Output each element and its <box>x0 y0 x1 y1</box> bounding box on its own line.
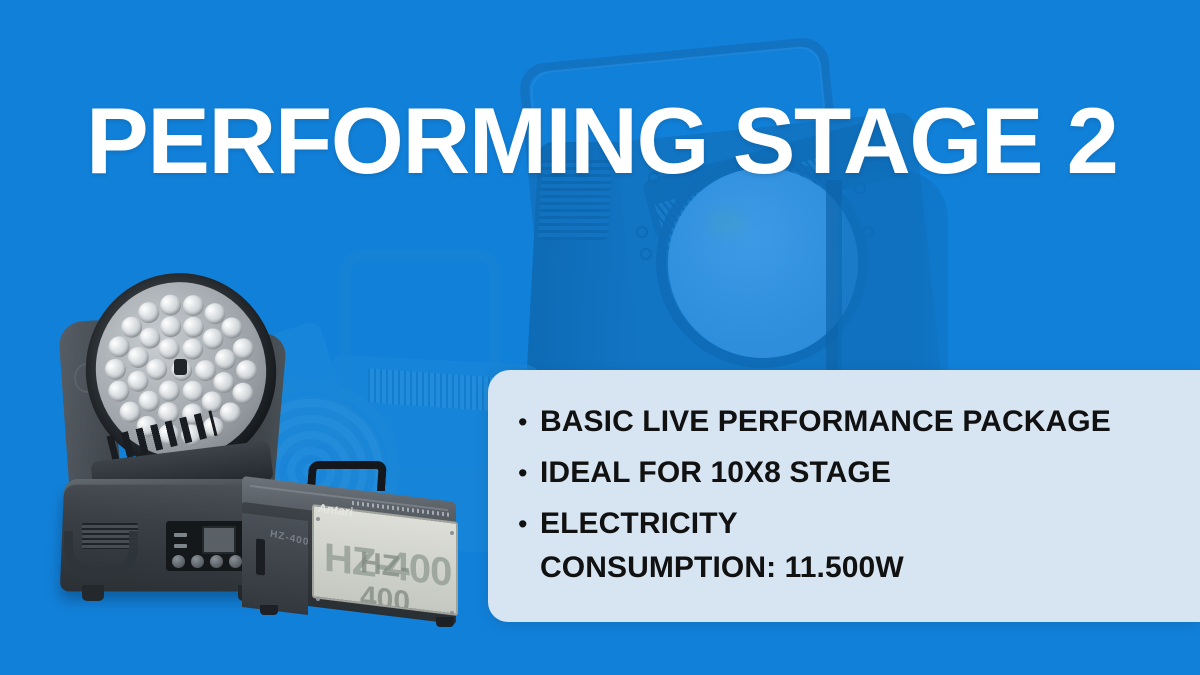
led-lens <box>157 314 182 339</box>
hazer-screw-icon <box>316 517 320 521</box>
moving-head-button[interactable] <box>210 555 223 568</box>
hazer-foot <box>436 617 454 627</box>
hazer-screw-icon <box>316 597 320 601</box>
spec-text: BASIC LIVE PERFORMANCE PACKAGE <box>540 400 1111 444</box>
page-title: PERFORMING STAGE 2 <box>86 94 1117 188</box>
spec-list: • BASIC LIVE PERFORMANCE PACKAGE • IDEAL… <box>518 400 1166 590</box>
moving-head-indicator-icon <box>174 533 187 537</box>
spec-text: ELECTRICITY CONSUMPTION: 11.500W <box>540 502 970 590</box>
hazer-vent-slot <box>256 538 265 575</box>
spec-text: IDEAL FOR 10X8 STAGE <box>540 451 891 495</box>
spec-card: • BASIC LIVE PERFORMANCE PACKAGE • IDEAL… <box>488 370 1200 622</box>
hazer-foot <box>260 605 278 615</box>
watermark-lens-glow <box>708 208 746 238</box>
moving-head-button[interactable] <box>172 555 185 568</box>
moving-head-carry-handle <box>64 531 138 575</box>
moving-head-center-hub <box>174 359 187 375</box>
haze-machine: HZ-400 HZ-400 HZ-400 Antari <box>230 465 470 625</box>
watermark-bolt-icon <box>862 226 874 238</box>
moving-head-button[interactable] <box>191 555 204 568</box>
hazer-model-overlay-text: HZ-400 <box>360 546 456 616</box>
slide-canvas: PERFORMING STAGE 2 • BASIC LIVE PERFORMA… <box>0 0 1200 675</box>
bullet-icon: • <box>518 400 540 444</box>
watermark-bolt-icon <box>636 226 648 238</box>
led-lens <box>158 292 183 317</box>
hazer-side-panel <box>242 513 308 615</box>
hazer-screw-icon <box>450 531 454 535</box>
list-item: • ELECTRICITY CONSUMPTION: 11.500W <box>518 502 1166 590</box>
moving-head-indicator-icon <box>174 544 187 548</box>
moving-head-foot <box>82 585 104 601</box>
led-lens <box>181 292 206 317</box>
hazer-front-plate: HZ-400 HZ-400 <box>312 504 458 616</box>
list-item: • IDEAL FOR 10X8 STAGE <box>518 451 1166 495</box>
watermark-bolt-icon <box>640 248 652 260</box>
bullet-icon: • <box>518 451 540 495</box>
product-photo: HZ-400 HZ-400 HZ-400 Antari <box>40 255 470 625</box>
bullet-icon: • <box>518 502 540 546</box>
list-item: • BASIC LIVE PERFORMANCE PACKAGE <box>518 400 1166 444</box>
led-lens <box>234 358 259 383</box>
hazer-screw-icon <box>450 611 454 615</box>
led-lens <box>102 356 127 381</box>
watermark-lens <box>668 168 858 358</box>
led-lens <box>156 378 181 403</box>
